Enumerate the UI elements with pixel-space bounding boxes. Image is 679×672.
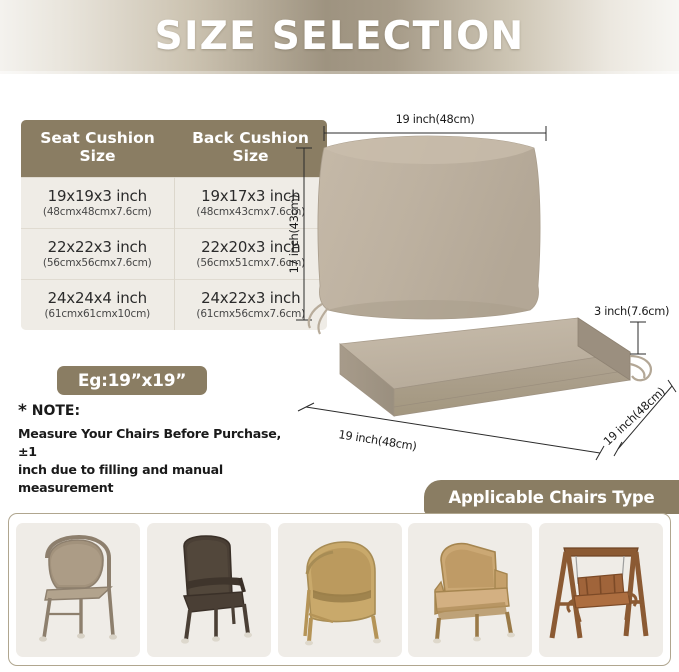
seat-cm-2: (56cmx56cmx7.6cm)	[25, 257, 170, 269]
example-size-badge: Eg:19”x19”	[57, 366, 207, 395]
column-header-seat-cushion: Seat Cushion Size	[21, 120, 174, 177]
applicable-chairs-label: Applicable Chairs Type	[448, 488, 654, 507]
chair-card-4	[408, 523, 532, 657]
thickness-label: 3 inch(7.6cm)	[594, 304, 669, 318]
cushion-dimension-diagram: 19 inch(48cm) 17 inch(43cm) 3 inch(7.6cm…	[278, 108, 679, 473]
barrel-wicker-armchair-icon	[285, 530, 395, 650]
tie-strap-left	[309, 304, 328, 334]
column-header-seat-line1: Seat Cushion	[40, 129, 155, 147]
seat-side-label: 19 inch(48cm)	[600, 384, 667, 448]
dimension-thickness	[630, 322, 646, 354]
chair-card-2	[147, 523, 271, 657]
note-heading-label: NOTE:	[32, 403, 80, 419]
example-size-label: Eg:19”x19”	[78, 371, 186, 391]
applicable-chairs-banner: Applicable Chairs Type	[424, 480, 679, 514]
wooden-porch-swing-icon	[546, 530, 656, 650]
seat-inch-3: 24x24x4 inch	[25, 289, 170, 307]
cell-seat-size-2: 22x22x3 inch (56cmx56cmx7.6cm)	[21, 228, 174, 279]
note-line-1: Measure Your Chairs Before Purchase, ±1	[18, 425, 288, 461]
chair-card-3	[278, 523, 402, 657]
note-text: Measure Your Chairs Before Purchase, ±1 …	[18, 425, 288, 497]
seat-front-label: 19 inch(48cm)	[338, 427, 418, 453]
column-header-seat-line2: Size	[25, 148, 170, 166]
asterisk-icon: *	[18, 401, 27, 421]
seat-cm-3: (61cmx61cmx10cm)	[25, 308, 170, 320]
chair-thumbnails-panel	[8, 513, 671, 666]
back-width-label: 19 inch(48cm)	[396, 112, 475, 126]
chair-card-5	[539, 523, 663, 657]
cell-seat-size-1: 19x19x3 inch (48cmx48cmx7.6cm)	[21, 177, 174, 228]
note-block: * NOTE: Measure Your Chairs Before Purch…	[18, 403, 288, 497]
page-header-banner: SIZE SELECTION	[0, 0, 679, 74]
rattan-arm-chair-icon	[415, 530, 525, 650]
seat-cm-1: (48cmx48cmx7.6cm)	[25, 206, 170, 218]
high-back-dark-wicker-chair-icon	[154, 530, 264, 650]
seat-inch-2: 22x22x3 inch	[25, 238, 170, 256]
chair-card-1	[16, 523, 140, 657]
page-title: SIZE SELECTION	[0, 14, 679, 59]
tie-strap-right	[630, 356, 651, 380]
cell-seat-size-3: 24x24x4 inch (61cmx61cmx10cm)	[21, 279, 174, 330]
note-heading: * NOTE:	[18, 403, 288, 420]
seat-cushion-shape	[340, 318, 630, 416]
back-cushion-shape	[318, 136, 540, 319]
note-line-2: inch due to filling and manual measureme…	[18, 461, 288, 497]
round-back-wicker-chair-icon	[23, 530, 133, 650]
back-height-label: 17 inch(43cm)	[287, 195, 301, 274]
seat-inch-1: 19x19x3 inch	[25, 187, 170, 205]
